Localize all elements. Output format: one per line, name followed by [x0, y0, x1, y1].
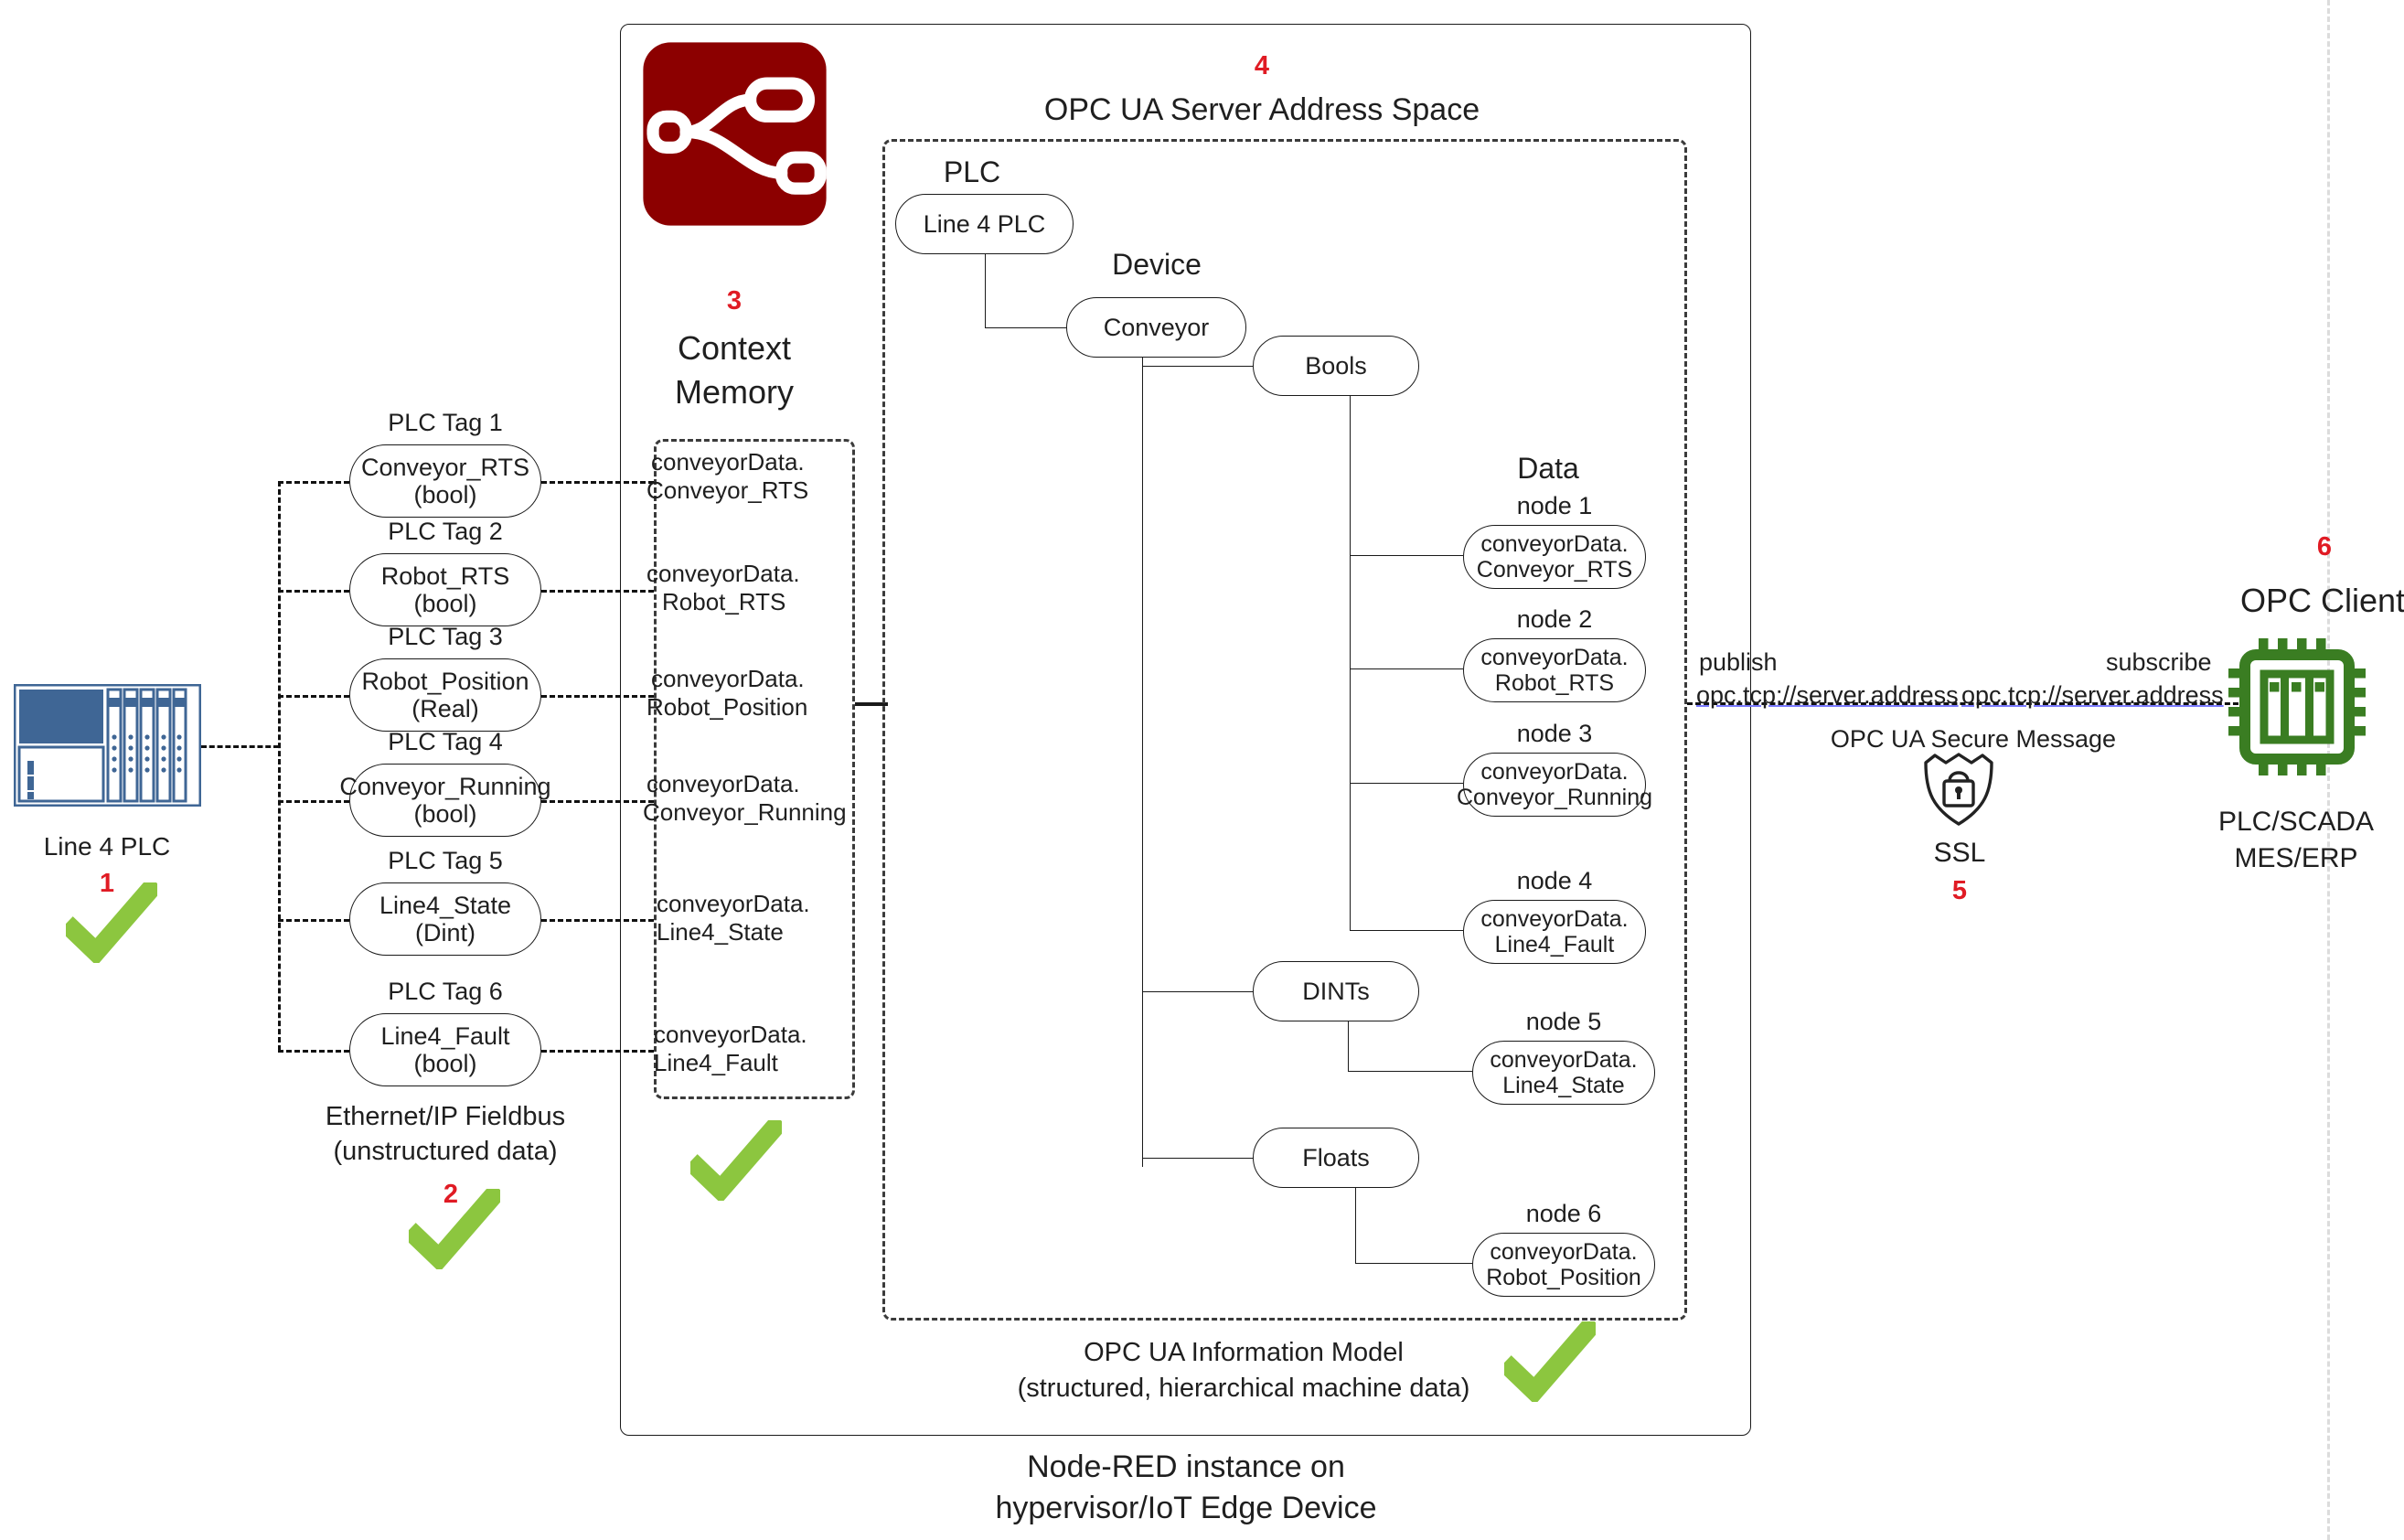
- context-memory-entry-5-l2: Line4_State: [657, 919, 784, 946]
- data-node-2-l2: Robot_RTS: [1480, 670, 1628, 696]
- bools-to-node3-h: [1350, 783, 1463, 784]
- datatype-node-dints[interactable]: DINTs: [1253, 961, 1419, 1021]
- context-memory-entry-2-l1: conveyorData.: [646, 561, 800, 588]
- check-icon-2: [409, 1189, 500, 1274]
- tag-to-memory-5: [541, 919, 654, 922]
- plc-tag-name-6: Line4_Fault: [380, 1022, 509, 1050]
- host-caption-line1: Node-RED instance on: [1027, 1449, 1345, 1485]
- plc-rack-icon: [14, 684, 201, 807]
- plc-source-label: Line 4 PLC: [44, 832, 171, 861]
- data-node-caption-1: node 1: [1517, 492, 1593, 520]
- fieldbus-branch-1: [278, 481, 349, 484]
- context-memory-entry-1-l1: conveyorData.: [651, 449, 805, 476]
- check-icon-3: [690, 1120, 782, 1205]
- plc-tag-type-5: (Dint): [379, 919, 511, 946]
- opc-client-title: OPC Client: [2240, 582, 2404, 619]
- subscribe-label: subscribe: [2106, 648, 2212, 677]
- plc-tag-name-1: Conveyor_RTS: [361, 454, 529, 481]
- plc-tag-caption-1: PLC Tag 1: [388, 409, 503, 437]
- floats-trunk-v: [1355, 1188, 1356, 1263]
- plc-tag-caption-6: PLC Tag 6: [388, 978, 503, 1006]
- node-red-logo: [637, 37, 832, 231]
- context-memory-entry-3-l1: conveyorData.: [651, 666, 805, 693]
- dints-trunk-v: [1348, 1021, 1349, 1071]
- context-memory-entry-1-l2: Conveyor_RTS: [646, 477, 808, 505]
- plc-tag-node-4[interactable]: Conveyor_Running (bool): [349, 764, 541, 837]
- context-memory-entry-5-l1: conveyorData.: [657, 891, 810, 918]
- step-number-5: 5: [1952, 876, 1967, 906]
- context-memory-entry-4-l2: Conveyor_Running: [643, 799, 847, 827]
- data-node-1[interactable]: conveyorData. Conveyor_RTS: [1463, 525, 1646, 589]
- data-node-1-l2: Conveyor_RTS: [1477, 557, 1632, 583]
- check-icon-4: [1504, 1321, 1596, 1406]
- diagram-canvas: Line 4 PLC 1 PLC Tag 1 Conveyor_RTS (boo…: [0, 0, 2404, 1540]
- plc-tag-caption-3: PLC Tag 3: [388, 623, 503, 651]
- dints-to-node5-h: [1348, 1071, 1472, 1072]
- fieldbus-branch-2: [278, 590, 349, 593]
- fieldbus-branch-3: [278, 695, 349, 698]
- host-caption-line2: hypervisor/IoT Edge Device: [995, 1491, 1376, 1526]
- level-label-plc: PLC: [944, 155, 1000, 189]
- data-node-caption-3: node 3: [1517, 720, 1593, 748]
- data-node-5-l1: conveyorData.: [1490, 1047, 1637, 1073]
- plc-tag-caption-2: PLC Tag 2: [388, 518, 503, 546]
- fieldbus-caption-line1: Ethernet/IP Fieldbus: [326, 1102, 565, 1132]
- plc-tag-type-4: (bool): [339, 800, 550, 828]
- context-memory-entry-6-l1: conveyorData.: [654, 1021, 807, 1049]
- bools-to-node1-h: [1350, 555, 1463, 556]
- data-node-6[interactable]: conveyorData. Robot_Position: [1472, 1233, 1655, 1297]
- plc-tag-node-5[interactable]: Line4_State (Dint): [349, 882, 541, 956]
- data-node-6-l1: conveyorData.: [1486, 1239, 1641, 1265]
- data-node-caption-5: node 5: [1526, 1008, 1602, 1036]
- tag-to-memory-1: [541, 481, 654, 484]
- level-label-data: Data: [1517, 452, 1579, 486]
- plc-to-conveyor-h: [985, 327, 1066, 328]
- fieldbus-branch-4: [278, 800, 349, 803]
- context-memory-title-2: Memory: [675, 373, 794, 411]
- address-space-plc-node[interactable]: Line 4 PLC: [895, 194, 1074, 254]
- datatype-node-dints-label: DINTs: [1302, 978, 1370, 1005]
- level-label-device: Device: [1112, 248, 1202, 282]
- plc-to-conveyor-v: [985, 254, 986, 327]
- plc-tag-type-2: (bool): [381, 590, 510, 617]
- bools-to-node4-h: [1350, 930, 1463, 931]
- cpu-chip-icon: [2228, 638, 2366, 775]
- data-node-caption-6: node 6: [1526, 1200, 1602, 1228]
- plc-tag-node-1[interactable]: Conveyor_RTS (bool): [349, 444, 541, 518]
- address-space-device-node[interactable]: Conveyor: [1066, 297, 1246, 358]
- data-node-1-l1: conveyorData.: [1477, 531, 1632, 557]
- fieldbus-caption-line2: (unstructured data): [333, 1137, 557, 1167]
- bools-to-node2-h: [1350, 668, 1463, 669]
- opc-client-sub-line1: PLC/SCADA: [2218, 807, 2374, 839]
- data-node-5-l2: Line4_State: [1490, 1073, 1637, 1098]
- plc-tag-caption-4: PLC Tag 4: [388, 728, 503, 756]
- information-model-caption-line2: (structured, hierarchical machine data): [1018, 1374, 1470, 1404]
- information-model-caption-line1: OPC UA Information Model: [1084, 1338, 1404, 1368]
- fieldbus-branch-5: [278, 919, 349, 922]
- plc-tag-type-1: (bool): [361, 481, 529, 508]
- plc-tag-caption-5: PLC Tag 5: [388, 847, 503, 875]
- address-space-plc-node-label: Line 4 PLC: [924, 210, 1046, 238]
- plc-tag-type-3: (Real): [361, 695, 529, 722]
- datatype-node-floats[interactable]: Floats: [1253, 1128, 1419, 1188]
- conveyor-to-bools-h: [1142, 366, 1253, 367]
- data-node-5[interactable]: conveyorData. Line4_State: [1472, 1041, 1655, 1105]
- context-memory-entry-4-l1: conveyorData.: [646, 771, 800, 798]
- opc-client-sub-line2: MES/ERP: [2234, 843, 2357, 875]
- publish-url[interactable]: opc.tcp://server.address: [1696, 681, 1959, 710]
- data-node-6-l2: Robot_Position: [1486, 1265, 1641, 1290]
- data-node-3[interactable]: conveyorData. Conveyor_Running: [1463, 753, 1646, 817]
- data-node-2[interactable]: conveyorData. Robot_RTS: [1463, 638, 1646, 702]
- plc-tag-node-3[interactable]: Robot_Position (Real): [349, 658, 541, 732]
- tag-to-memory-3: [541, 695, 654, 698]
- tag-to-memory-6: [541, 1050, 654, 1053]
- data-node-2-l1: conveyorData.: [1480, 645, 1628, 670]
- data-node-4-l2: Line4_Fault: [1480, 932, 1628, 957]
- check-icon-1: [66, 882, 157, 968]
- plc-tag-name-5: Line4_State: [379, 892, 511, 919]
- plc-tag-node-6[interactable]: Line4_Fault (bool): [349, 1013, 541, 1086]
- context-memory-entry-3-l2: Robot_Position: [646, 694, 807, 722]
- shield-lock-icon: [1920, 750, 1997, 829]
- subscribe-url[interactable]: opc.tcp://server.address: [1961, 681, 2224, 710]
- plc-tag-name-4: Conveyor_Running: [339, 773, 550, 800]
- fieldbus-trunk: [278, 481, 281, 1051]
- datatype-node-bools[interactable]: Bools: [1253, 336, 1419, 396]
- data-node-3-l1: conveyorData.: [1457, 759, 1652, 785]
- step-number-4: 4: [1255, 51, 1269, 81]
- data-node-4-l1: conveyorData.: [1480, 906, 1628, 932]
- address-space-title: OPC UA Server Address Space: [1044, 92, 1480, 128]
- tag-to-memory-4: [541, 800, 654, 803]
- ssl-label: SSL: [1934, 838, 1986, 870]
- plc-tag-type-6: (bool): [380, 1050, 509, 1077]
- step-number-6: 6: [2317, 532, 2332, 562]
- plc-tag-name-3: Robot_Position: [361, 668, 529, 695]
- step-number-3: 3: [727, 286, 742, 316]
- context-memory-title-1: Context: [678, 329, 791, 367]
- data-node-caption-4: node 4: [1517, 867, 1593, 895]
- plc-tag-name-2: Robot_RTS: [381, 562, 510, 590]
- context-memory-box: [654, 439, 855, 1099]
- fieldbus-branch-6: [278, 1050, 349, 1053]
- plc-to-bus-line: [201, 745, 279, 748]
- data-node-caption-2: node 2: [1517, 605, 1593, 634]
- datatype-node-floats-label: Floats: [1302, 1144, 1370, 1171]
- address-space-device-node-label: Conveyor: [1104, 314, 1210, 341]
- data-node-4[interactable]: conveyorData. Line4_Fault: [1463, 900, 1646, 964]
- bools-trunk-v: [1350, 396, 1351, 930]
- plc-tag-node-2[interactable]: Robot_RTS (bool): [349, 553, 541, 626]
- datatype-node-bools-label: Bools: [1305, 352, 1367, 380]
- tag-to-memory-2: [541, 590, 654, 593]
- conveyor-trunk-v: [1142, 358, 1143, 1167]
- floats-to-node6-h: [1355, 1263, 1472, 1264]
- conveyor-to-dints-h: [1142, 991, 1253, 992]
- context-memory-entry-6-l2: Line4_Fault: [654, 1050, 778, 1077]
- conveyor-to-floats-h: [1142, 1158, 1253, 1159]
- context-memory-entry-2-l2: Robot_RTS: [662, 589, 785, 616]
- data-node-3-l2: Conveyor_Running: [1457, 785, 1652, 810]
- publish-label: publish: [1699, 648, 1778, 677]
